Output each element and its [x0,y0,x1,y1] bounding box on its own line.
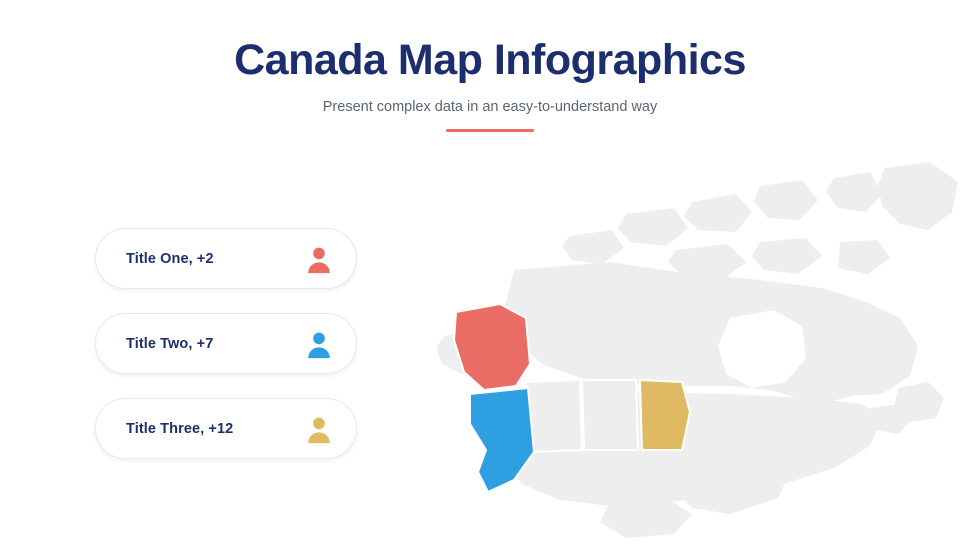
list-item[interactable]: Title One, +2 [95,228,357,289]
person-icon [304,329,334,359]
list-item[interactable]: Title Three, +12 [95,398,357,459]
person-icon [304,414,334,444]
title-underline-divider [446,129,534,132]
page-title: Canada Map Infographics [0,38,980,83]
header: Canada Map Infographics Present complex … [0,38,980,132]
slide: Canada Map Infographics Present complex … [0,0,980,551]
region-manitoba [640,380,690,450]
page-subtitle: Present complex data in an easy-to-under… [0,99,980,115]
card-label-two: Title Two, +7 [126,336,213,352]
card-label-three: Title Three, +12 [126,421,233,437]
person-icon [304,244,334,274]
canada-map [430,150,970,540]
card-label-one: Title One, +2 [126,251,214,267]
list-item[interactable]: Title Two, +7 [95,313,357,374]
legend-card-list: Title One, +2 Title Two, +7 Title Three,… [95,228,357,483]
region-yukon [454,304,530,390]
